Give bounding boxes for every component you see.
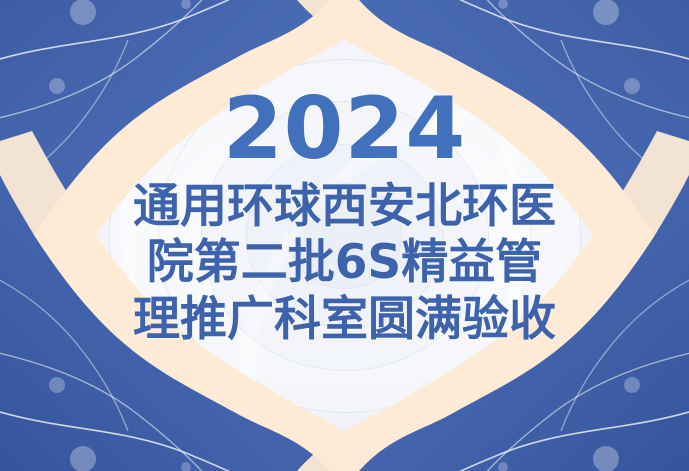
poster-text-block: 2024 通用环球西安北环医 院第二批6S精益管 理推广科室圆满验收 — [0, 0, 689, 471]
poster-headline: 通用环球西安北环医 院第二批6S精益管 理推广科室圆满验收 — [133, 183, 556, 345]
headline-line-1: 通用环球西安北环医 — [133, 183, 556, 231]
headline-line-3: 理推广科室圆满验收 — [133, 296, 556, 344]
poster-canvas: 2024 通用环球西安北环医 院第二批6S精益管 理推广科室圆满验收 — [0, 0, 689, 471]
headline-line-2: 院第二批6S精益管 — [147, 239, 543, 287]
poster-year: 2024 — [223, 88, 466, 171]
